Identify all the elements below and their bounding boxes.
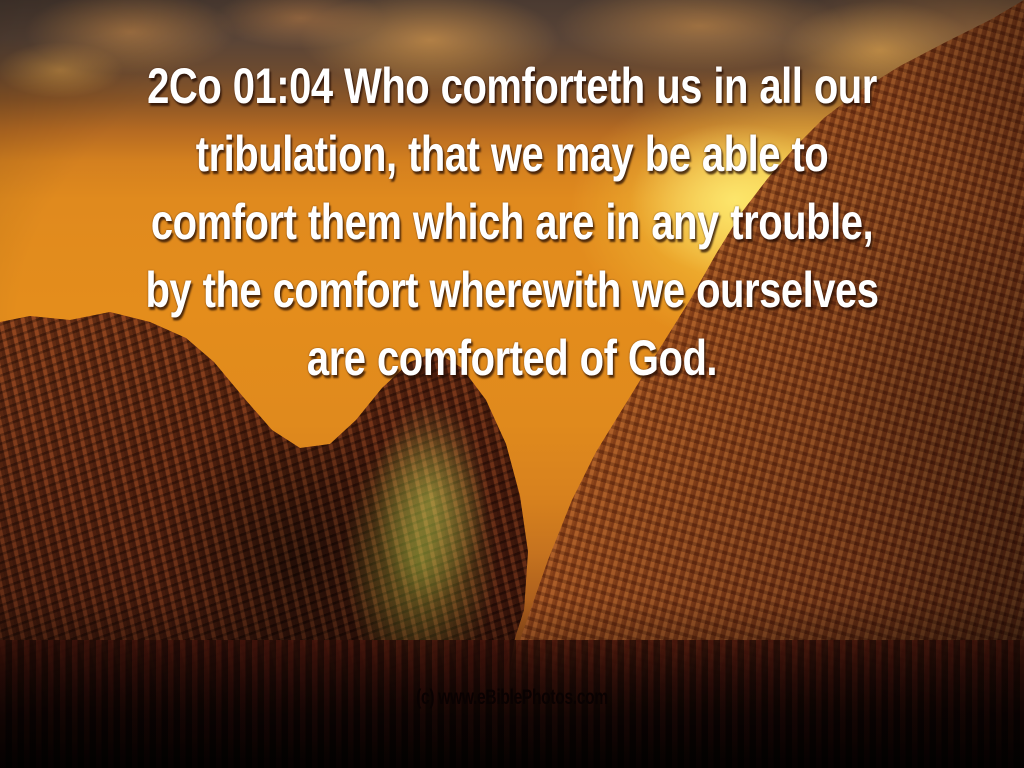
verse-text: 2Co 01:04 Who comforteth us in all our t… xyxy=(102,52,921,392)
verse-image: 2Co 01:04 Who comforteth us in all our t… xyxy=(0,0,1024,768)
copyright-watermark: (c) www.eBiblePhotos.com xyxy=(133,686,891,710)
